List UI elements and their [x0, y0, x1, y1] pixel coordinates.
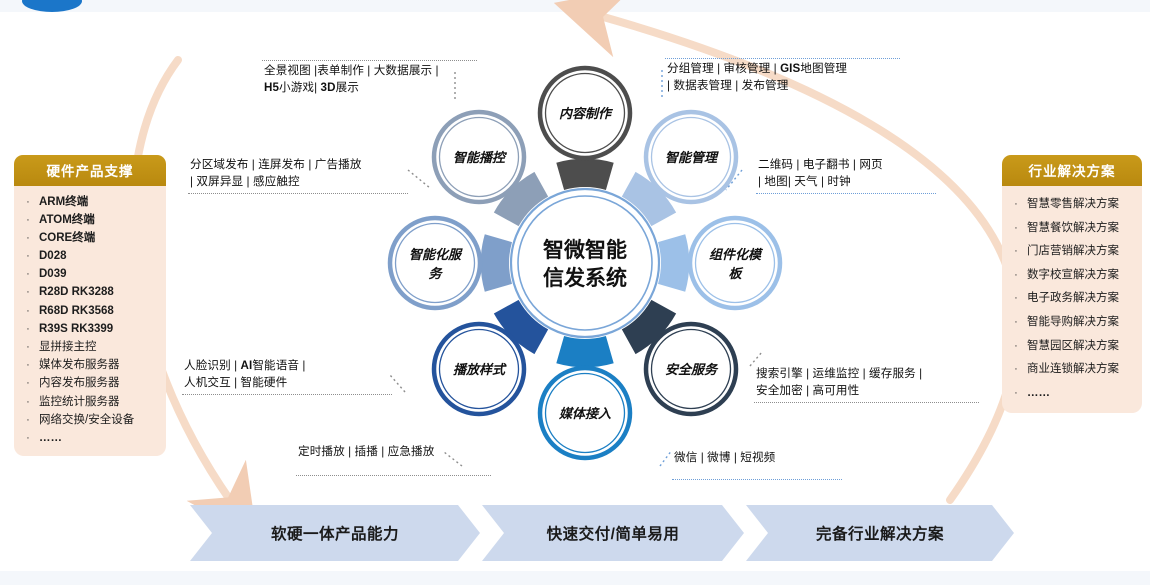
list-item[interactable]: ·CORE终端: [24, 229, 160, 247]
callout-line-1: 分区域发布 | 连屏发布 | 广告播放: [190, 157, 406, 174]
bullet-icon: ·: [24, 432, 32, 445]
list-item[interactable]: ·D028: [24, 248, 160, 266]
list-item[interactable]: ·智慧餐饮解决方案: [1012, 217, 1136, 241]
center-label-line1: 智微智能: [543, 238, 627, 262]
smart-broadcast-callout: 分区域发布 | 连屏发布 | 广告播放 | 双屏异显 | 感应触控: [188, 155, 408, 194]
callout-rule: [188, 193, 408, 194]
callout-rule: [754, 402, 979, 403]
list-item[interactable]: ·门店营销解决方案: [1012, 240, 1136, 264]
step-3[interactable]: 完备行业解决方案: [746, 505, 1014, 561]
node-security-service[interactable]: 安全服务: [646, 324, 736, 414]
smart-management-callout: 分组管理 | 审核管理 | GIS地图管理 | 数据表管理 | 发布管理: [665, 58, 900, 97]
wedge-smart-service: [481, 234, 512, 291]
callout-line-2: 人机交互 | 智能硬件: [184, 375, 390, 392]
list-item[interactable]: ·……: [1012, 382, 1136, 406]
callout-line-2: 安全加密 | 高可用性: [756, 383, 977, 400]
list-item[interactable]: ·显拼接主控: [24, 339, 160, 357]
bullet-icon: ·: [1012, 363, 1020, 376]
node-label-content-production: 内容制作: [559, 106, 614, 121]
bullet-icon: ·: [24, 250, 32, 263]
bullet-icon: ·: [24, 377, 32, 390]
callout-line-2: H5小游戏| 3D展示: [264, 80, 475, 97]
center-disc: [511, 189, 659, 337]
callout-line-1: 定时播放 | 插播 | 应急播放: [298, 444, 494, 461]
bullet-icon: ·: [1012, 269, 1020, 282]
list-item[interactable]: ·内容发布服务器: [24, 375, 160, 393]
node-label-component-template-l1: 组件化模: [709, 247, 764, 262]
component-template-callout: 二维码 | 电子翻书 | 网页 | 地图| 天气 | 时钟: [756, 155, 936, 194]
list-item[interactable]: ·R28D RK3288: [24, 284, 160, 302]
bullet-icon: ·: [24, 414, 32, 427]
security-service-callout: 搜索引擎 | 运维监控 | 缓存服务 | 安全加密 | 高可用性: [754, 364, 979, 403]
node-label-smart-broadcast: 智能播控: [453, 150, 508, 165]
list-item[interactable]: ·R68D RK3568: [24, 302, 160, 320]
list-item[interactable]: ·……: [24, 429, 160, 447]
callout-rule: [672, 479, 842, 480]
hardware-support-list: ·ARM终端 ·ATOM终端 ·CORE终端 ·D028 ·D039 ·R28D…: [14, 186, 166, 456]
step-1[interactable]: 软硬一体产品能力: [190, 505, 480, 561]
bullet-icon: ·: [24, 323, 32, 336]
bullet-icon: ·: [24, 359, 32, 372]
node-label-smart-management: 智能管理: [665, 150, 719, 165]
node-component-template[interactable]: 组件化模 板: [690, 218, 780, 308]
callout-line-1: 人脸识别 | AI智能语音 |: [184, 358, 390, 375]
node-smart-service[interactable]: 智能化服 务: [390, 218, 480, 308]
bullet-icon: ·: [24, 305, 32, 318]
node-label-smart-service-l2: 务: [428, 266, 443, 281]
bullet-icon: ·: [1012, 222, 1020, 235]
node-label-media-access: 媒体接入: [558, 406, 611, 421]
smart-service-callout: 人脸识别 | AI智能语音 | 人机交互 | 智能硬件: [182, 356, 392, 395]
node-media-access[interactable]: 媒体接入: [540, 368, 630, 458]
content-production-callout: 全景视图 |表单制作 | 大数据展示 | H5小游戏| 3D展示: [262, 60, 477, 99]
bullet-icon: ·: [24, 214, 32, 227]
node-label-security-service: 安全服务: [665, 362, 719, 377]
bullet-icon: ·: [24, 232, 32, 245]
callout-line-1: 二维码 | 电子翻书 | 网页: [758, 157, 934, 174]
hardware-support-panel-title: 硬件产品支撑: [14, 155, 166, 186]
callout-rule: [296, 475, 491, 476]
node-smart-management[interactable]: 智能管理: [646, 112, 736, 202]
wedge-content-production: [556, 159, 613, 190]
bullet-icon: ·: [1012, 316, 1020, 329]
wedge-component-template: [658, 234, 689, 291]
industry-solutions-list: ·智慧零售解决方案 ·智慧餐饮解决方案 ·门店营销解决方案 ·数字校宣解决方案 …: [1002, 186, 1142, 413]
callout-rule: [756, 193, 936, 194]
list-item[interactable]: ·智慧园区解决方案: [1012, 334, 1136, 358]
list-item[interactable]: ·智能导购解决方案: [1012, 311, 1136, 335]
industry-solutions-panel-title: 行业解决方案: [1002, 155, 1142, 186]
bullet-icon: ·: [24, 341, 32, 354]
list-item[interactable]: ·媒体发布服务器: [24, 357, 160, 375]
node-label-component-template-l2: 板: [728, 266, 743, 281]
list-item[interactable]: ·D039: [24, 266, 160, 284]
callout-rule: [182, 394, 392, 395]
node-content-production[interactable]: 内容制作: [540, 68, 630, 158]
node-play-style[interactable]: 播放样式: [434, 324, 524, 414]
wedge-media-access: [556, 336, 613, 367]
bullet-icon: ·: [24, 196, 32, 209]
footer-step-row: 软硬一体产品能力 快速交付/简单易用 完备行业解决方案: [190, 505, 970, 561]
list-item[interactable]: ·商业连锁解决方案: [1012, 358, 1136, 382]
diagram-canvas: 智微智能 信发系统 内容制作 智能管理 组件化模 板: [0, 0, 1150, 585]
callout-line-2: | 数据表管理 | 发布管理: [667, 78, 898, 95]
bullet-icon: ·: [1012, 245, 1020, 258]
list-item[interactable]: ·数字校宣解决方案: [1012, 264, 1136, 288]
bullet-icon: ·: [24, 396, 32, 409]
list-item[interactable]: ·智慧零售解决方案: [1012, 193, 1136, 217]
list-item[interactable]: ·监控统计服务器: [24, 393, 160, 411]
node-label-play-style: 播放样式: [453, 362, 507, 377]
callout-line-2: | 双屏异显 | 感应触控: [190, 174, 406, 191]
media-access-callout: 微信 | 微博 | 短视频: [672, 448, 847, 480]
step-2[interactable]: 快速交付/简单易用: [482, 505, 744, 561]
center-label-line2: 信发系统: [543, 266, 627, 290]
callout-line-1: 微信 | 微博 | 短视频: [674, 450, 845, 467]
callout-line-1: 全景视图 |表单制作 | 大数据展示 |: [264, 63, 475, 80]
list-item[interactable]: ·ARM终端: [24, 193, 160, 211]
hub-wheel: 智微智能 信发系统 内容制作 智能管理 组件化模 板: [285, 48, 885, 478]
callout-line-2: | 地图| 天气 | 时钟: [758, 174, 934, 191]
bullet-icon: ·: [24, 268, 32, 281]
bullet-icon: ·: [1012, 340, 1020, 353]
bullet-icon: ·: [1012, 198, 1020, 211]
callout-line-1: 搜索引擎 | 运维监控 | 缓存服务 |: [756, 366, 977, 383]
callout-line-1: 分组管理 | 审核管理 | GIS地图管理: [667, 61, 898, 78]
node-label-smart-service-l1: 智能化服: [409, 247, 463, 262]
industry-solutions-panel: 行业解决方案 ·智慧零售解决方案 ·智慧餐饮解决方案 ·门店营销解决方案 ·数字…: [1002, 155, 1142, 413]
list-item[interactable]: ·R39S RK3399: [24, 320, 160, 338]
bullet-icon: ·: [1012, 292, 1020, 305]
bullet-icon: ·: [24, 286, 32, 299]
list-item[interactable]: ·ATOM终端: [24, 211, 160, 229]
list-item[interactable]: ·电子政务解决方案: [1012, 287, 1136, 311]
list-item[interactable]: ·网络交换/安全设备: [24, 411, 160, 429]
node-smart-broadcast[interactable]: 智能播控: [434, 112, 524, 202]
bullet-icon: ·: [1012, 387, 1020, 400]
play-style-callout: 定时播放 | 插播 | 应急播放: [296, 442, 496, 476]
hardware-support-panel: 硬件产品支撑 ·ARM终端 ·ATOM终端 ·CORE终端 ·D028 ·D03…: [14, 155, 166, 456]
